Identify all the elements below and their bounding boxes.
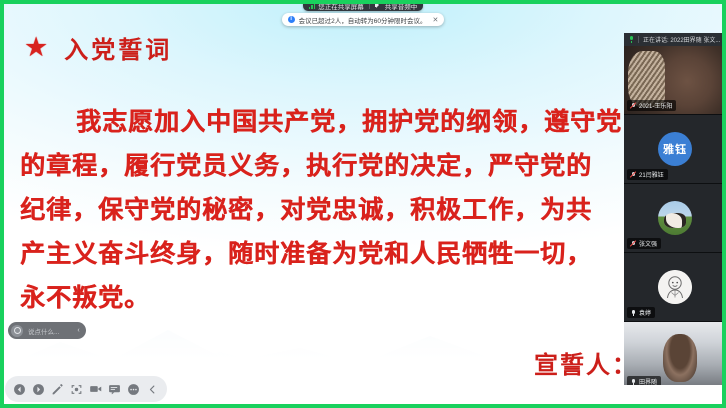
sharing-screen-label: 您正在共享屏幕: [318, 1, 364, 11]
signal-bars-icon: [309, 3, 316, 9]
chevron-left-icon[interactable]: ‹: [77, 327, 79, 334]
oath-text-block: 我志愿加入中国共产党，拥护党的纲领，遵守党 的章程，履行党员义务，执行党的决定，…: [20, 100, 660, 320]
avatar: 雅钰: [658, 132, 692, 166]
participant-video-strip: 正在讲话: 2022田界随 张文... 2021-王乐阳 雅钰 21闫雅钰: [624, 33, 726, 385]
info-icon: i: [288, 16, 295, 23]
video-camera-icon[interactable]: [86, 378, 105, 400]
next-slide-button[interactable]: [29, 378, 48, 400]
slide-title-block: ★ 入党誓词: [24, 30, 172, 65]
more-dots-icon[interactable]: [124, 378, 143, 400]
participant-name: 21闫雅钰: [639, 170, 664, 179]
sharing-screen-status: 您正在共享屏幕: [309, 1, 364, 11]
sharing-audio-status: 共享音频中: [375, 1, 418, 11]
close-icon[interactable]: ✕: [432, 16, 438, 24]
chat-bubble-icon[interactable]: [105, 378, 124, 400]
slide-chat-placeholder[interactable]: 说点什么...: [28, 326, 59, 336]
mic-muted-icon: [630, 240, 636, 247]
oath-signer-text: 宣誓人：: [534, 345, 638, 380]
participant-name-tag: 2021-王乐阳: [627, 100, 676, 111]
user-avatar-icon: [11, 325, 23, 337]
slide-chat-input-bar[interactable]: 说点什么... ‹: [8, 322, 86, 339]
oath-line: 产主义奋斗终身，随时准备为党和人民牺牲一切，: [20, 232, 660, 276]
slide-title-text: 入党誓词: [64, 30, 172, 65]
meeting-limit-notice[interactable]: i 会议已超过2人，自动转为60分钟限时会议。 ✕: [282, 13, 445, 26]
participant-name-tag: 田界随: [627, 376, 661, 385]
mic-muted-icon: [630, 171, 636, 178]
meeting-screen-share-window: ★ 入党誓词 我志愿加入中国共产党，拥护党的纲领，遵守党 的章程，履行党员义务，…: [0, 0, 726, 408]
participant-name-tag: 袁婷: [627, 307, 655, 318]
presentation-toolbar[interactable]: [5, 376, 167, 402]
sharing-audio-label: 共享音频中: [385, 1, 418, 11]
speaker-icon: [375, 2, 382, 9]
participant-name: 张文强: [639, 239, 657, 248]
sketch-person-icon: [658, 270, 692, 304]
mic-muted-icon: [630, 102, 636, 109]
participant-tile[interactable]: 袁婷: [624, 253, 726, 322]
participant-name: 田界随: [639, 377, 657, 385]
avatar: [658, 270, 692, 304]
prev-slide-button[interactable]: [10, 378, 29, 400]
participant-tile[interactable]: 张文强: [624, 184, 726, 253]
participant-name: 袁婷: [639, 308, 651, 317]
participant-tile[interactable]: 田界随: [624, 322, 726, 385]
mic-plain-icon: [630, 378, 636, 385]
oath-line: 我志愿加入中国共产党，拥护党的纲领，遵守党: [20, 100, 660, 144]
notice-text: 会议已超过2人，自动转为60分钟限时会议。: [299, 15, 427, 25]
active-speaker-bar: 正在讲话: 2022田界随 张文...: [624, 33, 726, 46]
pen-icon[interactable]: [48, 378, 67, 400]
oath-line: 永不叛党。: [20, 276, 660, 320]
screen-share-status-pill[interactable]: 您正在共享屏幕 共享音频中: [303, 0, 424, 11]
participant-tile[interactable]: 雅钰 21闫雅钰: [624, 115, 726, 184]
mic-plain-icon: [630, 309, 636, 316]
shared-slide-surface: ★ 入党誓词 我志愿加入中国共产党，拥护党的纲领，遵守党 的章程，履行党员义务，…: [0, 0, 726, 408]
mic-on-icon: [629, 36, 634, 43]
red-star-icon: ★: [24, 34, 48, 61]
collapse-toolbar-button[interactable]: [143, 378, 162, 400]
divider: [638, 36, 639, 43]
avatar: [658, 201, 692, 235]
participant-tile[interactable]: 2021-王乐阳: [624, 46, 726, 115]
participant-name: 2021-王乐阳: [639, 101, 672, 110]
oath-line: 的章程，履行党员义务，执行党的决定，严守党的: [20, 144, 660, 188]
oath-line: 纪律，保守党的秘密，对党忠诚，积极工作，为共: [20, 188, 660, 232]
divider: [369, 2, 370, 9]
active-speaker-label: 正在讲话: 2022田界随 张文...: [643, 35, 720, 44]
participant-name-tag: 21闫雅钰: [627, 169, 668, 180]
participant-name-tag: 张文强: [627, 238, 661, 249]
laser-pointer-icon[interactable]: [67, 378, 86, 400]
